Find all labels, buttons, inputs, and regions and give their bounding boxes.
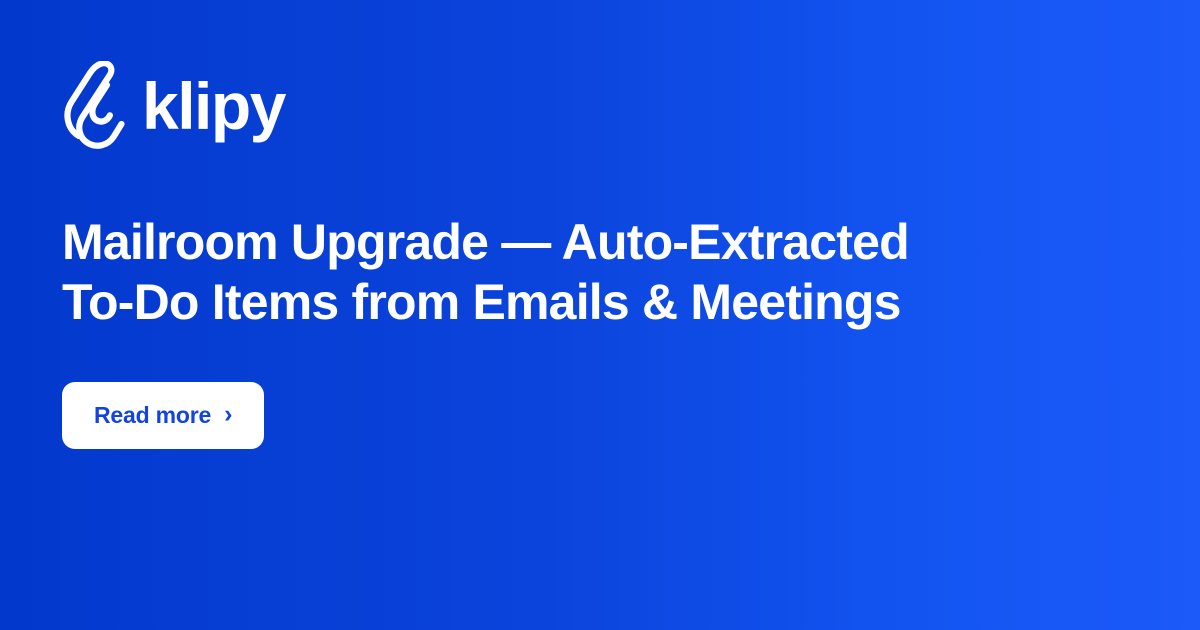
page-title: Mailroom Upgrade — Auto-Extracted To-Do … bbox=[62, 212, 982, 332]
read-more-label: Read more bbox=[94, 404, 211, 427]
read-more-button[interactable]: Read more › bbox=[62, 382, 264, 449]
brand-name: klipy bbox=[142, 73, 285, 139]
brand-logo[interactable]: klipy bbox=[62, 58, 1138, 154]
paperclip-icon bbox=[62, 61, 128, 151]
cta-row: Read more › bbox=[62, 382, 1138, 449]
og-card: klipy Mailroom Upgrade — Auto-Extracted … bbox=[0, 0, 1200, 630]
headline-block: Mailroom Upgrade — Auto-Extracted To-Do … bbox=[62, 212, 982, 332]
chevron-right-icon: › bbox=[224, 402, 232, 427]
